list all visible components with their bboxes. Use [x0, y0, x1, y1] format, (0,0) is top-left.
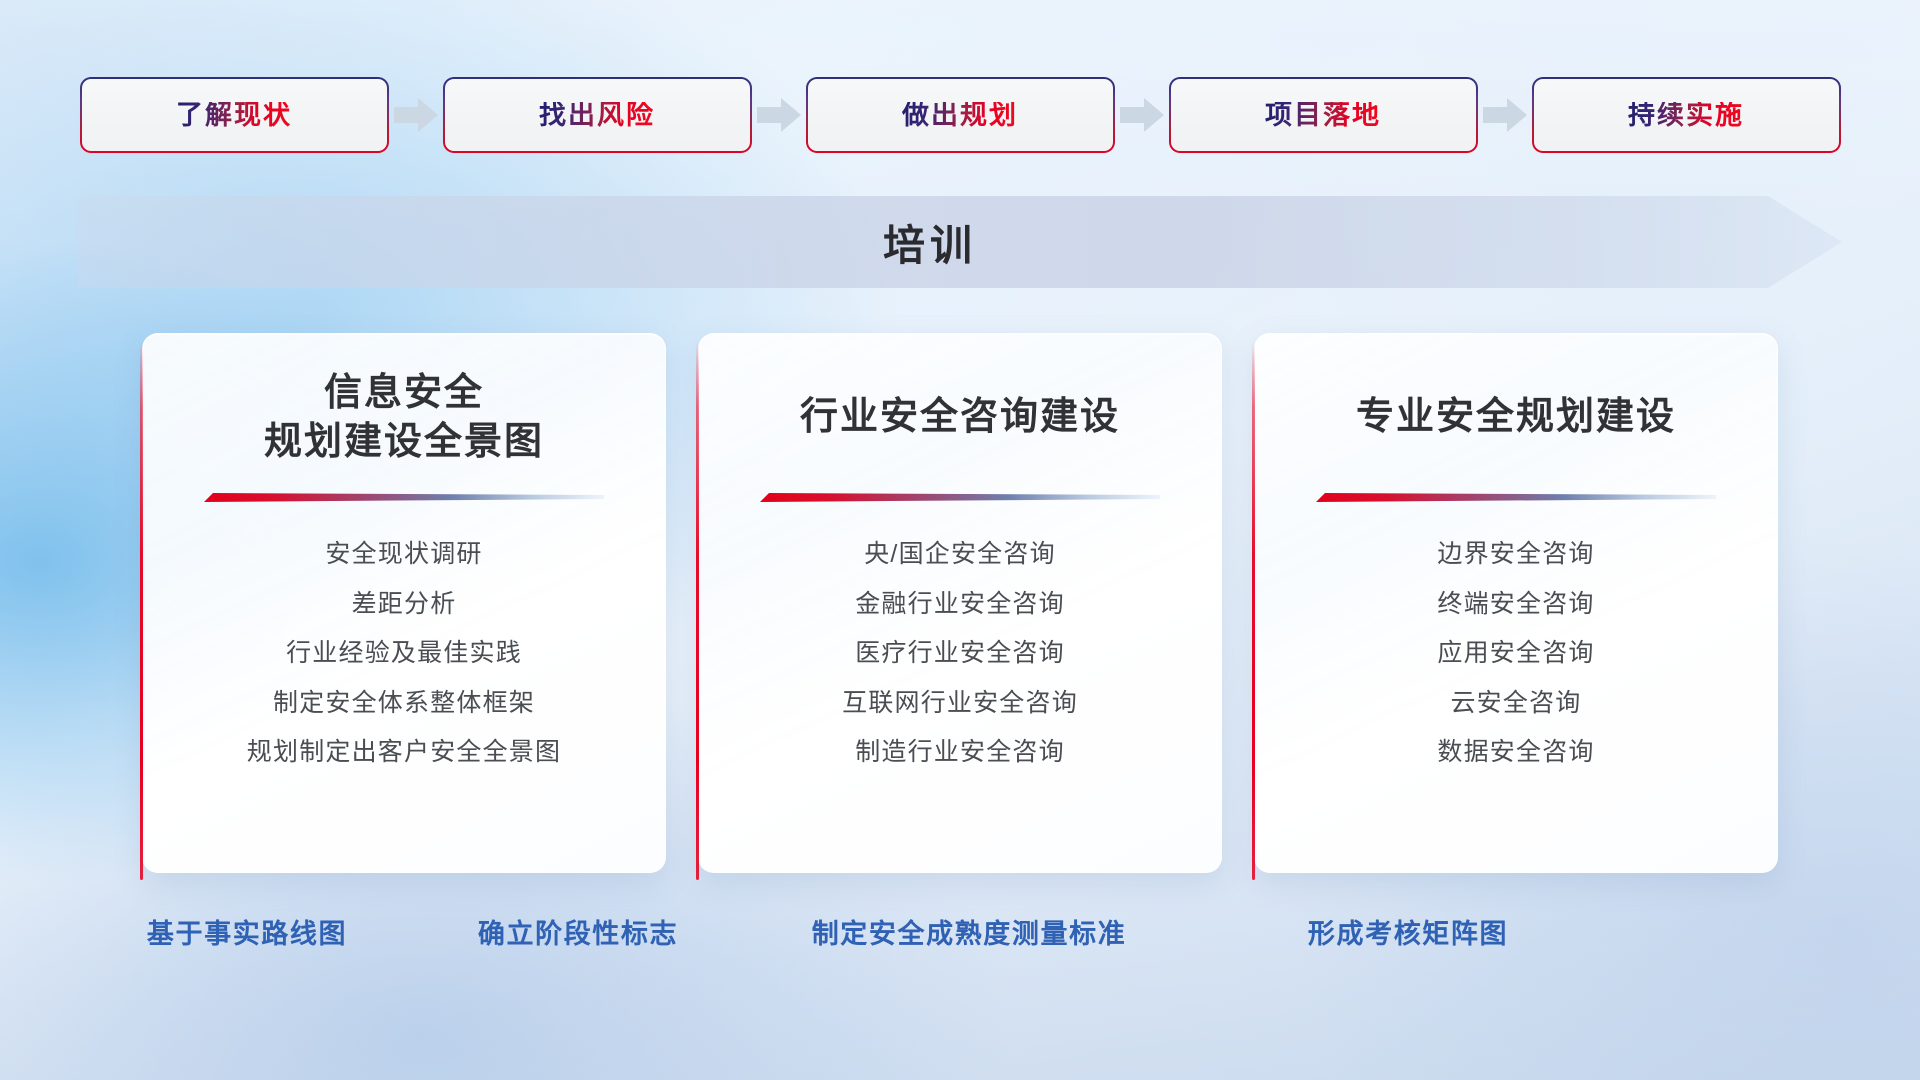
- card-divider: [204, 490, 604, 506]
- list-item: 安全现状调研: [325, 534, 482, 575]
- list-item: 终端安全咨询: [1437, 584, 1594, 625]
- process-step-row: 了解现状 找出风险 做出规划 项目落地: [0, 76, 1920, 154]
- banner-label: 培训: [78, 196, 1842, 288]
- step-label: 项目落地: [1265, 102, 1381, 129]
- card-info-security-blueprint[interactable]: 信息安全 规划建设全景图: [142, 333, 666, 873]
- card-title: 行业安全咨询建设: [800, 368, 1120, 468]
- step-box-4[interactable]: 项目落地: [1171, 79, 1476, 151]
- step-label: 持续实施: [1628, 102, 1744, 129]
- card-industry-security-consulting[interactable]: 行业安全咨询建设: [698, 333, 1222, 873]
- step-box-3[interactable]: 做出规划: [808, 79, 1113, 151]
- list-item: 制定安全体系整体框架: [273, 683, 535, 724]
- card-divider: [760, 490, 1160, 506]
- bottom-label-row: 基于事实路线图 确立阶段性标志 制定安全成熟度测量标准 形成考核矩阵图: [0, 912, 1920, 962]
- list-item: 边界安全咨询: [1437, 534, 1594, 575]
- step-box-2[interactable]: 找出风险: [445, 79, 750, 151]
- step-label: 了解现状: [176, 102, 292, 129]
- list-item: 金融行业安全咨询: [855, 584, 1065, 625]
- card-divider: [1316, 490, 1716, 506]
- list-item: 云安全咨询: [1450, 683, 1581, 724]
- list-item: 互联网行业安全咨询: [842, 683, 1078, 724]
- card-item-list: 安全现状调研 差距分析 行业经验及最佳实践 制定安全体系整体框架 规划制定出客户…: [169, 534, 639, 773]
- step-box-1[interactable]: 了解现状: [82, 79, 387, 151]
- card-title-line: 信息安全: [264, 369, 544, 418]
- bottom-label-3: 制定安全成熟度测量标准: [812, 912, 1127, 951]
- card-row: 信息安全 规划建设全景图: [0, 333, 1920, 878]
- list-item: 央/国企安全咨询: [864, 534, 1056, 575]
- card-item-list: 边界安全咨询 终端安全咨询 应用安全咨询 云安全咨询 数据安全咨询: [1281, 534, 1751, 773]
- list-item: 规划制定出客户安全全景图: [247, 732, 561, 773]
- list-item: 医疗行业安全咨询: [855, 633, 1065, 674]
- card-title-line: 专业安全规划建设: [1356, 393, 1676, 442]
- card-title-line: 规划建设全景图: [264, 418, 544, 467]
- arrow-right-icon: [1113, 79, 1171, 151]
- step-box-5[interactable]: 持续实施: [1534, 79, 1839, 151]
- bottom-label-1: 基于事实路线图: [147, 912, 347, 951]
- bottom-label-2: 确立阶段性标志: [478, 912, 678, 951]
- card-professional-security-planning[interactable]: 专业安全规划建设: [1254, 333, 1778, 873]
- card-title-line: 行业安全咨询建设: [800, 393, 1120, 442]
- step-label: 找出风险: [539, 102, 655, 129]
- bottom-label-4: 形成考核矩阵图: [1308, 912, 1508, 951]
- list-item: 行业经验及最佳实践: [286, 633, 522, 674]
- card-title: 专业安全规划建设: [1356, 368, 1676, 468]
- slide-canvas: 了解现状 找出风险 做出规划 项目落地: [0, 0, 1920, 1080]
- list-item: 差距分析: [352, 584, 457, 625]
- arrow-right-icon: [1476, 79, 1534, 151]
- arrow-right-icon: [387, 79, 445, 151]
- card-item-list: 央/国企安全咨询 金融行业安全咨询 医疗行业安全咨询 互联网行业安全咨询 制造行…: [725, 534, 1195, 773]
- training-banner: 培训: [78, 196, 1842, 288]
- list-item: 数据安全咨询: [1437, 732, 1594, 773]
- list-item: 应用安全咨询: [1437, 633, 1594, 674]
- arrow-right-icon: [750, 79, 808, 151]
- list-item: 制造行业安全咨询: [855, 732, 1065, 773]
- step-label: 做出规划: [902, 102, 1018, 129]
- card-title: 信息安全 规划建设全景图: [264, 368, 544, 468]
